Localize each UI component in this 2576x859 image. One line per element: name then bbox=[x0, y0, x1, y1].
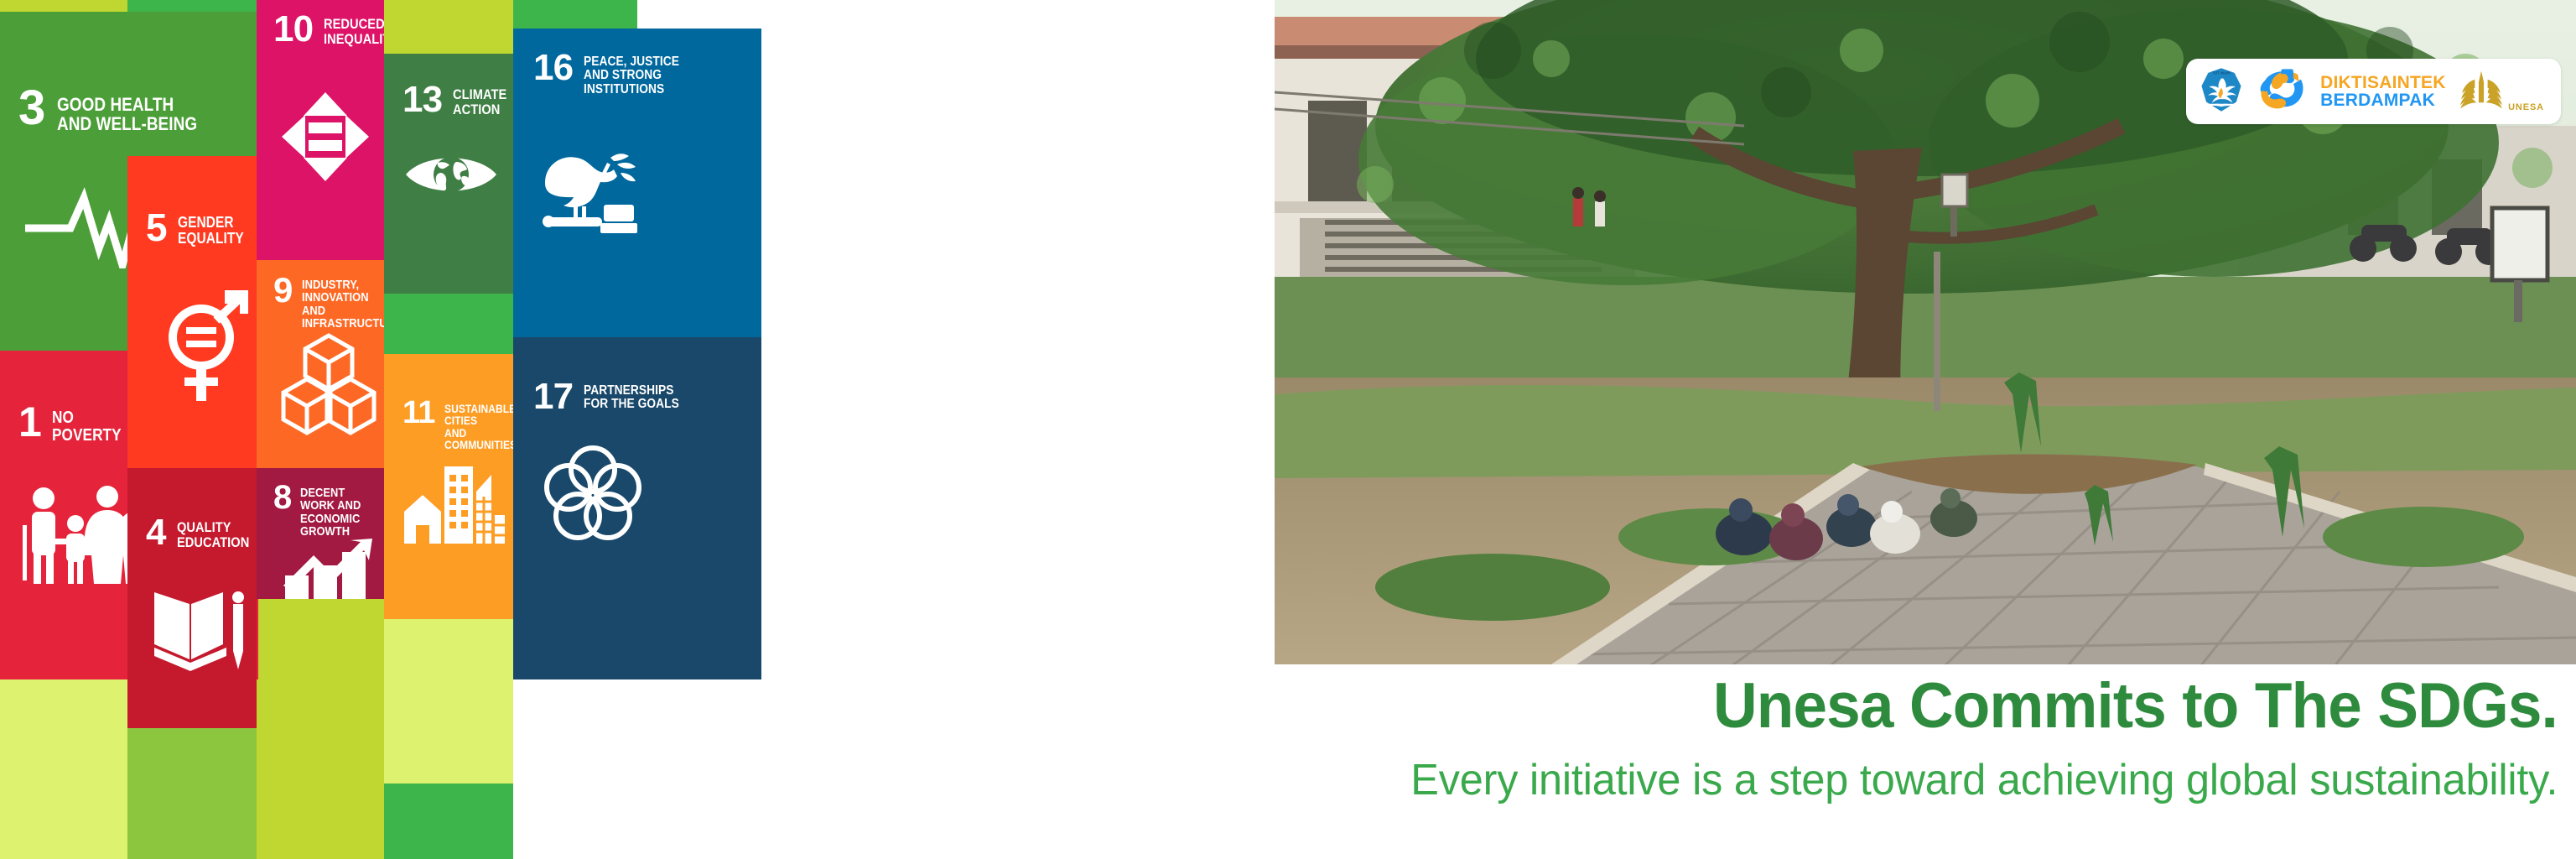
goal-tile-11[interactable]: 11 SUSTAINABLE CITIES AND COMMUNITIES bbox=[384, 354, 513, 619]
badge-program-name: DIKTISAINTEK BERDAMPAK bbox=[2320, 74, 2446, 110]
tile-filler-c3-bottom bbox=[257, 599, 384, 859]
goal-tile-16[interactable]: 16 PEACE, JUSTICE AND STRONG INSTITUTION… bbox=[513, 29, 761, 337]
tile-filler-c1-top bbox=[0, 0, 127, 12]
tile-filler-c5-top bbox=[513, 0, 637, 29]
unesa-wordmark: UNESA bbox=[2508, 102, 2544, 112]
goal-3-title: GOOD HEALTH AND WELL-BEING bbox=[57, 96, 197, 133]
sdg-banner: 3 GOOD HEALTH AND WELL-BEING 1 NO POVERT… bbox=[0, 0, 2576, 859]
goal-17-number: 17 bbox=[533, 381, 573, 413]
tut-wuri-handayani-icon: TUT WURI bbox=[2198, 66, 2245, 117]
buildings-icon bbox=[402, 463, 505, 547]
goal-16-number: 16 bbox=[533, 52, 573, 84]
equals-arrows-icon bbox=[277, 86, 374, 188]
goal-tile-4[interactable]: 4 QUALITY EDUCATION bbox=[127, 468, 257, 728]
goal-13-title: CLIMATE ACTION bbox=[453, 87, 506, 117]
dove-gavel-icon bbox=[533, 146, 641, 240]
diktisaintek-logo-icon bbox=[2257, 66, 2309, 117]
goal-3-number: 3 bbox=[18, 87, 44, 129]
tile-filler-c5-bottom bbox=[513, 679, 637, 859]
goal-17-title: PARTNERSHIPS FOR THE GOALS bbox=[584, 384, 679, 412]
goal-16-title: PEACE, JUSTICE AND STRONG INSTITUTIONS bbox=[584, 55, 679, 96]
tile-filler-c1-bottom bbox=[0, 679, 127, 859]
unesa-logo-icon: UNESA bbox=[2458, 70, 2544, 114]
tile-filler-c4-top bbox=[384, 0, 513, 54]
goal-9-title: INDUSTRY, INNOVATION AND INFRASTRUCTURE bbox=[302, 279, 384, 331]
book-pencil-icon bbox=[153, 586, 252, 678]
circles-icon bbox=[543, 443, 642, 542]
goal-8-title: DECENT WORK AND ECONOMIC GROWTH bbox=[300, 487, 372, 539]
page-subtitle: Every initiative is a step toward achiev… bbox=[1410, 755, 2558, 805]
page-title: Unesa Commits to The SDGs. bbox=[1713, 669, 2558, 742]
goal-4-title: QUALITY EDUCATION bbox=[177, 520, 249, 549]
goal-10-title: REDUCED INEQUALITIES bbox=[324, 17, 384, 46]
goal-10-number: 10 bbox=[273, 13, 313, 45]
goal-tile-13[interactable]: 13 CLIMATE ACTION bbox=[384, 54, 513, 294]
goal-tile-8[interactable]: 8 DECENT WORK AND ECONOMIC GROWTH bbox=[257, 468, 384, 599]
tile-filler-c4-low bbox=[384, 619, 513, 784]
goal-tile-10[interactable]: 10 REDUCED INEQUALITIES bbox=[257, 0, 384, 260]
goal-4-number: 4 bbox=[146, 517, 166, 549]
goal-11-title: SUSTAINABLE CITIES AND COMMUNITIES bbox=[444, 403, 513, 451]
badge-word-diktisaintek: DIKTISAINTEK bbox=[2320, 74, 2446, 91]
cubes-icon bbox=[280, 331, 377, 440]
svg-text:TUT WURI: TUT WURI bbox=[2212, 70, 2231, 75]
goal-5-title: GENDER EQUALITY bbox=[178, 215, 244, 246]
badge-word-berdampak: BERDAMPAK bbox=[2320, 91, 2446, 109]
growth-chart-icon bbox=[282, 539, 376, 599]
goal-tile-5[interactable]: 5 GENDER EQUALITY bbox=[127, 156, 257, 468]
goal-tile-17[interactable]: 17 PARTNERSHIPS FOR THE GOALS bbox=[513, 337, 761, 679]
goal-8-number: 8 bbox=[273, 483, 291, 512]
tile-filler-c4-mid bbox=[384, 294, 513, 354]
goal-11-number: 11 bbox=[402, 399, 435, 427]
goal-13-number: 13 bbox=[402, 84, 442, 116]
goal-5-number: 5 bbox=[146, 211, 167, 245]
tile-filler-c2-bottom bbox=[127, 728, 257, 859]
tile-filler-c4-bottom bbox=[384, 784, 513, 859]
goal-1-title: NO POVERTY bbox=[52, 409, 122, 444]
goal-1-number: 1 bbox=[18, 404, 41, 440]
goal-tile-9[interactable]: 9 INDUSTRY, INNOVATION AND INFRASTRUCTUR… bbox=[257, 260, 384, 468]
logo-badge[interactable]: TUT WURI DIKTISAINTEK BE bbox=[2186, 59, 2561, 124]
goal-9-number: 9 bbox=[273, 275, 293, 305]
gender-equality-icon bbox=[164, 287, 257, 404]
eye-globe-icon bbox=[404, 151, 498, 198]
headline-panel: Unesa Commits to The SDGs. Every initiat… bbox=[830, 664, 2576, 859]
